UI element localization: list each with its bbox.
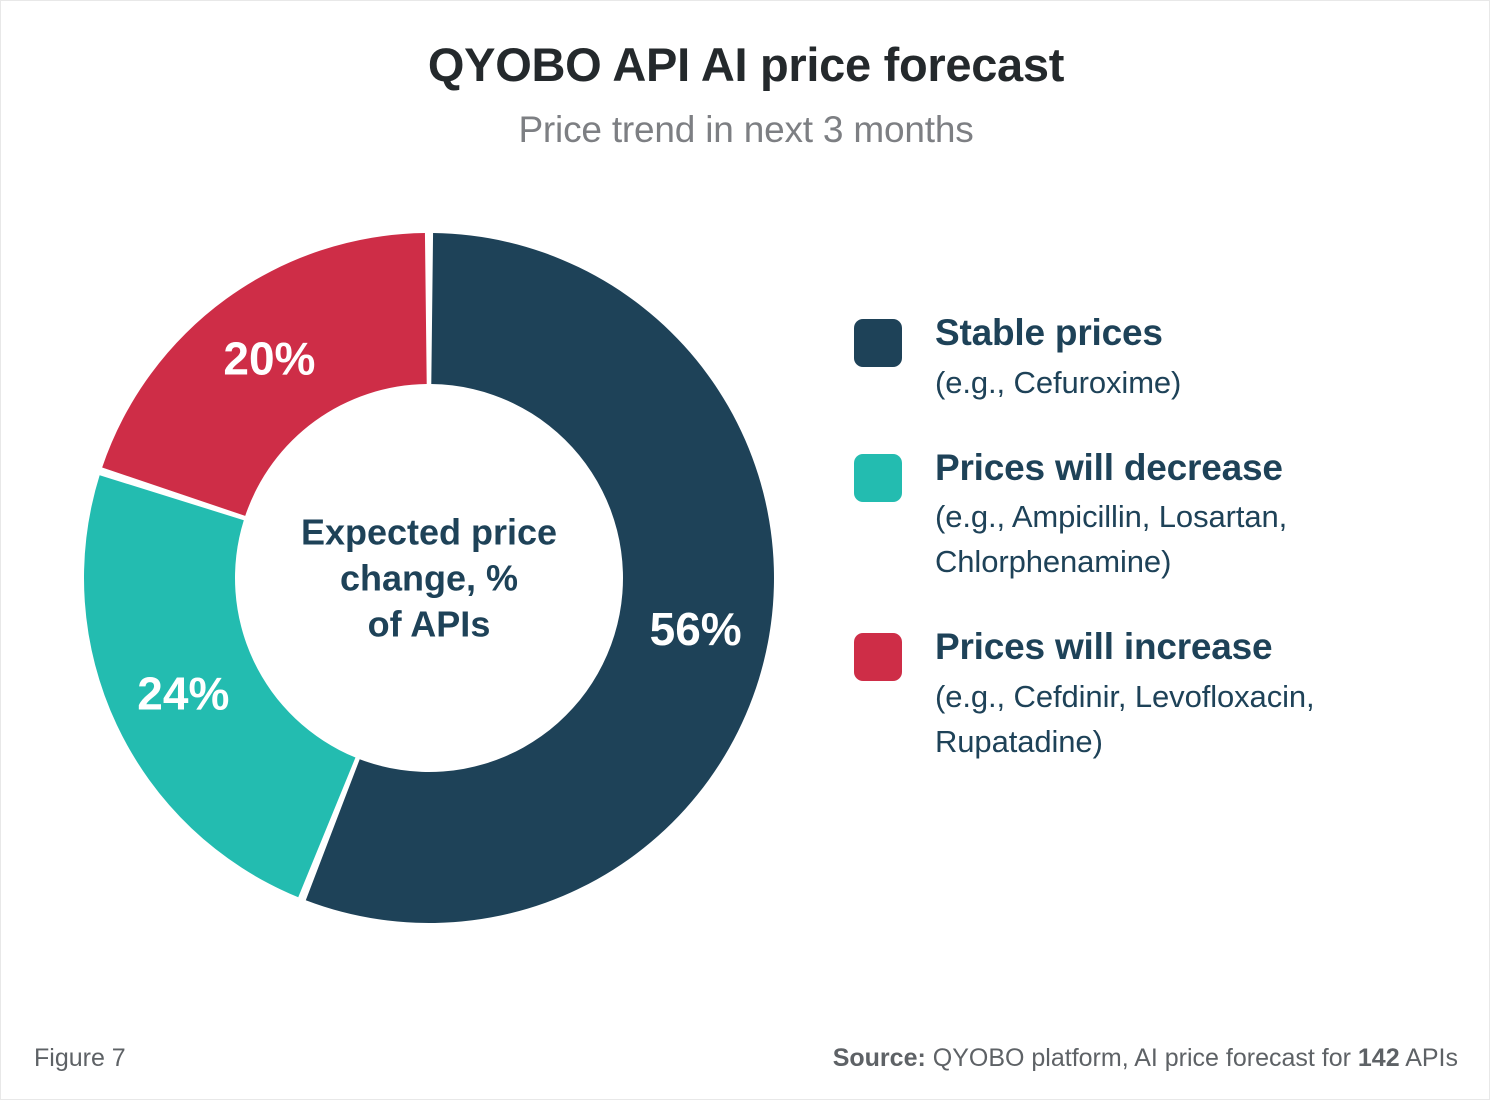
source-count: 142 xyxy=(1358,1044,1400,1072)
source-mid: QYOBO platform, AI price forecast for xyxy=(926,1044,1358,1072)
slice-value-label-prices-will-decrease: 24% xyxy=(137,668,229,720)
legend-text-prices-will-increase: Prices will increase (e.g., Cefdinir, Le… xyxy=(935,625,1454,765)
legend-sub-prices-will-increase: (e.g., Cefdinir, Levofloxacin, Rupatadin… xyxy=(935,675,1454,765)
donut-svg: 56%24%20% Expected pricechange, %of APIs xyxy=(84,233,774,923)
source-suffix: APIs xyxy=(1400,1044,1458,1072)
source-prefix: Source: xyxy=(833,1044,926,1072)
figure-container: QYOBO API AI price forecast Price trend … xyxy=(0,0,1490,1100)
legend-label-stable-prices: Stable prices xyxy=(935,311,1181,355)
legend-text-stable-prices: Stable prices (e.g., Cefuroxime) xyxy=(935,311,1181,406)
legend-sub-stable-prices: (e.g., Cefuroxime) xyxy=(935,361,1181,406)
legend-swatch-stable-prices xyxy=(854,319,902,367)
donut-chart: 56%24%20% Expected pricechange, %of APIs xyxy=(84,233,774,923)
donut-center-line-3: of APIs xyxy=(368,604,491,645)
legend-label-prices-will-decrease: Prices will decrease xyxy=(935,446,1454,490)
donut-center-line-1: Expected price xyxy=(301,512,557,553)
legend-swatch-prices-will-increase xyxy=(854,633,902,681)
chart-title: QYOBO API AI price forecast xyxy=(1,37,1490,92)
legend-swatch-prices-will-decrease xyxy=(854,454,902,502)
chart-legend: Stable prices (e.g., Cefuroxime) Prices … xyxy=(854,311,1454,805)
donut-center-text: Expected pricechange, %of APIs xyxy=(301,512,557,645)
figure-number: Figure 7 xyxy=(34,1044,126,1073)
slice-value-label-prices-will-increase: 20% xyxy=(223,332,315,384)
legend-item-prices-will-decrease[interactable]: Prices will decrease (e.g., Ampicillin, … xyxy=(854,446,1454,586)
legend-label-prices-will-increase: Prices will increase xyxy=(935,625,1454,669)
figure-footer: Figure 7 Source: QYOBO platform, AI pric… xyxy=(1,1044,1490,1073)
legend-item-stable-prices[interactable]: Stable prices (e.g., Cefuroxime) xyxy=(854,311,1454,406)
legend-text-prices-will-decrease: Prices will decrease (e.g., Ampicillin, … xyxy=(935,446,1454,586)
source-note: Source: QYOBO platform, AI price forecas… xyxy=(833,1044,1458,1073)
chart-subtitle: Price trend in next 3 months xyxy=(1,109,1490,151)
legend-item-prices-will-increase[interactable]: Prices will increase (e.g., Cefdinir, Le… xyxy=(854,625,1454,765)
donut-center-line-2: change, % xyxy=(340,558,518,599)
legend-sub-prices-will-decrease: (e.g., Ampicillin, Losartan, Chlorphenam… xyxy=(935,495,1454,585)
slice-value-label-stable-prices: 56% xyxy=(650,603,742,655)
